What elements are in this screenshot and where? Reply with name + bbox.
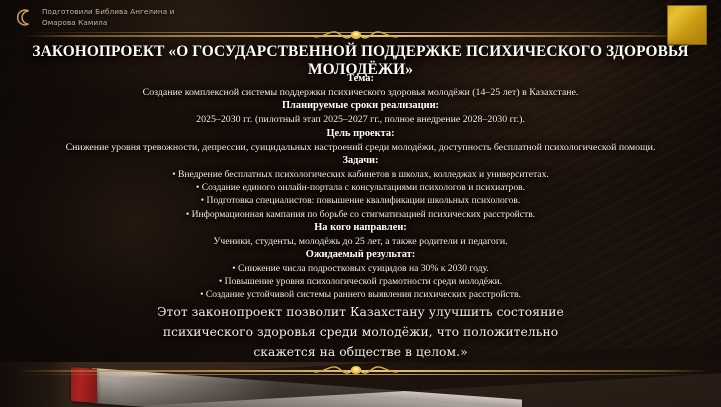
section-bullet: • Подготовка специалистов: повышение ква… [12,194,709,207]
closing-quote-line: скажется на обществе в целом.» [0,343,721,363]
section-bullet: • Повышение уровня психологической грамо… [12,275,709,288]
gold-flourish-ornament-bottom [313,363,399,379]
section-heading-sroki: Планируемые сроки реализации: [12,99,709,113]
crescent-moon-icon [14,8,33,27]
section-bullet: • Создание устойчивой системы раннего вы… [12,288,709,301]
section-heading-tema: Тема: [12,72,709,86]
section-line: Создание комплексной системы поддержки п… [12,86,709,100]
byline-text: Подготовили Библива Ангелина и Омарова К… [42,7,207,29]
closing-quote-line: Этот законопроект позволит Казахстану ул… [0,303,721,323]
section-heading-result: Ожидаемый результат: [12,248,709,262]
closing-quote-line: психического здоровья среди молодёжи, чт… [0,323,721,343]
section-heading-cel: Цель проекта: [12,127,709,141]
section-line: Ученики, студенты, молодёжь до 25 лет, а… [12,235,709,249]
byline: Подготовили Библива Ангелина и Омарова К… [14,7,207,29]
gold-flourish-ornament-top [313,28,399,44]
section-line: Снижение уровня тревожности, депрессии, … [12,141,709,155]
gold-square-accent [667,5,707,45]
bottom-left-shadow [0,362,72,407]
section-bullet: • Информационная кампания по борьбе со с… [12,208,709,221]
section-bullet: • Создание единого онлайн-портала с конс… [12,181,709,194]
section-heading-zadachi: Задачи: [12,154,709,168]
section-heading-audience: На кого направлен: [12,221,709,235]
presentation-slide: Подготовили Библива Ангелина и Омарова К… [0,0,721,407]
red-book-spine [71,367,97,403]
section-line: 2025–2030 гг. (пилотный этап 2025–2027 г… [12,113,709,127]
section-bullet: • Внедрение бесплатных психологических к… [12,168,709,181]
section-bullet: • Снижение числа подростковых суицидов н… [12,262,709,275]
closing-quote: Этот законопроект позволит Казахстану ул… [0,303,721,363]
slide-body: Тема: Создание комплексной системы подде… [12,72,709,302]
